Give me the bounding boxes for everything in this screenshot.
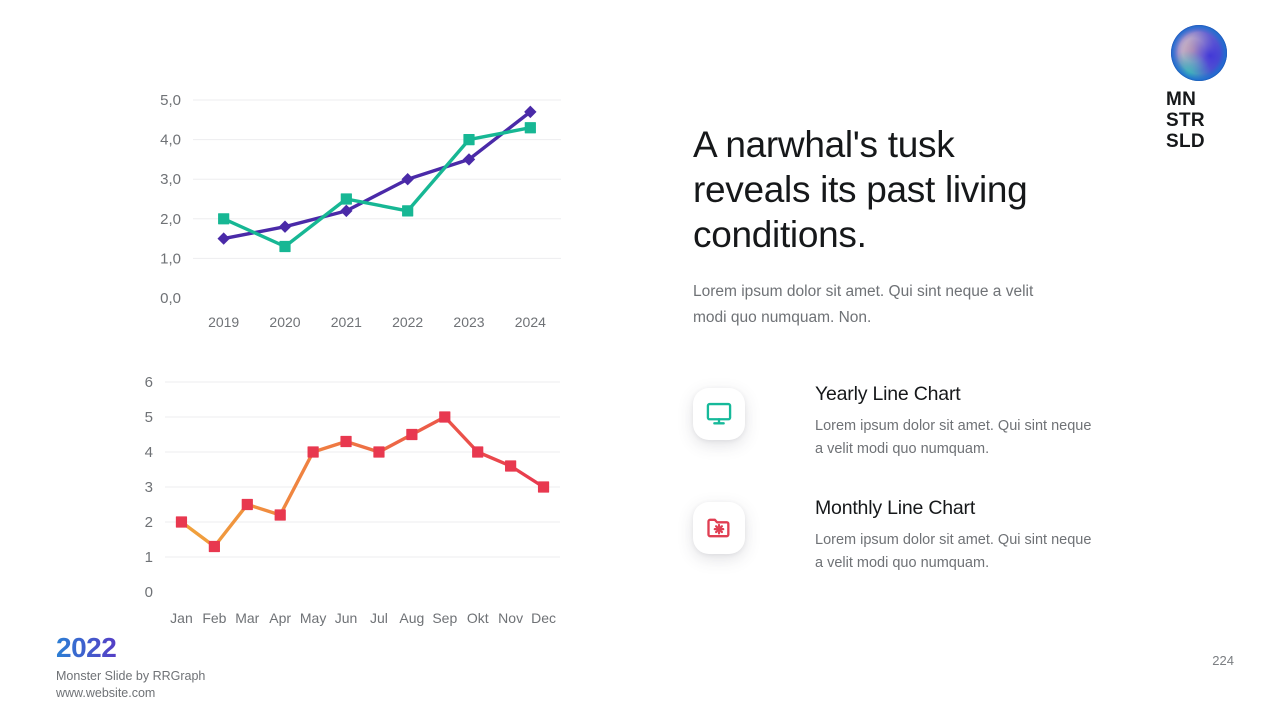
x-axis-tick-label: Apr	[269, 610, 291, 626]
page-number: 224	[1212, 653, 1234, 668]
feature-item-monthly-line-chart[interactable]: Monthly Line Chart Lorem ipsum dolor sit…	[693, 496, 1173, 575]
logo-wordmark: MN STR SLD	[1166, 89, 1238, 152]
y-axis-tick-label: 3	[145, 479, 153, 496]
y-axis-tick-label: 3,0	[160, 171, 181, 188]
feature-list: Yearly Line Chart Lorem ipsum dolor sit …	[693, 382, 1173, 610]
data-point-marker	[538, 481, 549, 492]
x-axis-tick-label: Jan	[170, 610, 193, 626]
folder-settings-icon	[705, 514, 733, 542]
data-point-marker	[472, 446, 483, 457]
x-axis-tick-label: 2020	[269, 314, 300, 330]
content-panel: A narwhal's tusk reveals its past living…	[693, 122, 1173, 331]
x-axis-tick-label: Aug	[399, 610, 424, 626]
footer: 2022 Monster Slide by RRGraph www.websit…	[56, 632, 205, 702]
y-axis-tick-label: 6	[145, 374, 153, 391]
logo-line-1: MN	[1166, 89, 1238, 110]
y-axis-tick-label: 4	[145, 444, 153, 461]
data-point-marker	[242, 499, 253, 510]
x-axis-tick-label: Jun	[335, 610, 358, 626]
feature-text: Yearly Line Chart Lorem ipsum dolor sit …	[815, 382, 1095, 461]
feature-title: Monthly Line Chart	[815, 496, 1095, 520]
data-point-marker	[217, 232, 229, 244]
footer-year: 2022	[56, 632, 205, 664]
footer-credits: Monster Slide by RRGraph www.website.com	[56, 668, 205, 702]
data-point-marker	[373, 446, 384, 457]
yearly-chart-svg: 0,01,02,03,04,05,02019202020212022202320…	[140, 80, 580, 340]
data-point-marker	[279, 221, 291, 233]
x-axis-tick-label: May	[300, 610, 326, 626]
x-axis-tick-label: 2022	[392, 314, 423, 330]
y-axis-tick-label: 5,0	[160, 92, 181, 109]
brand-logo[interactable]: MN STR SLD	[1162, 22, 1238, 152]
logo-line-2: STR	[1166, 110, 1238, 131]
x-axis-tick-label: Nov	[498, 610, 523, 626]
data-point-marker	[439, 411, 450, 422]
x-axis-tick-label: 2024	[515, 314, 546, 330]
series-line	[224, 112, 531, 239]
feature-icon-badge	[693, 502, 745, 554]
y-axis-tick-label: 0	[145, 584, 153, 601]
y-axis-tick-label: 4,0	[160, 132, 181, 149]
data-point-marker	[406, 429, 417, 440]
series-line	[182, 417, 544, 547]
monthly-chart-svg: 0123456JanFebMarAprMayJunJulAugSepOktNov…	[140, 362, 580, 632]
feature-icon-badge	[693, 388, 745, 440]
data-point-marker	[279, 241, 290, 252]
monthly-line-chart: 0123456JanFebMarAprMayJunJulAugSepOktNov…	[140, 362, 580, 632]
y-axis-tick-label: 5	[145, 409, 153, 426]
data-point-marker	[209, 541, 220, 552]
data-point-marker	[505, 460, 516, 471]
data-point-marker	[176, 516, 187, 527]
x-axis-tick-label: Sep	[432, 610, 457, 626]
data-point-marker	[340, 436, 351, 447]
data-point-marker	[275, 509, 286, 520]
data-point-marker	[463, 134, 474, 145]
gradient-sphere-icon	[1168, 22, 1230, 84]
yearly-line-chart: 0,01,02,03,04,05,02019202020212022202320…	[140, 80, 580, 340]
data-point-marker	[402, 205, 413, 216]
y-axis-tick-label: 1,0	[160, 250, 181, 267]
x-axis-tick-label: Okt	[467, 610, 489, 626]
data-point-marker	[218, 213, 229, 224]
data-point-marker	[525, 122, 536, 133]
y-axis-tick-label: 0,0	[160, 290, 181, 307]
x-axis-tick-label: 2023	[453, 314, 484, 330]
monitor-icon	[705, 400, 733, 428]
x-axis-tick-label: Jul	[370, 610, 388, 626]
data-point-marker	[401, 173, 413, 185]
x-axis-tick-label: Feb	[202, 610, 226, 626]
feature-title: Yearly Line Chart	[815, 382, 1095, 406]
x-axis-tick-label: 2021	[331, 314, 362, 330]
data-point-marker	[308, 446, 319, 457]
x-axis-tick-label: Dec	[531, 610, 556, 626]
x-axis-tick-label: 2019	[208, 314, 239, 330]
footer-website-line[interactable]: www.website.com	[56, 685, 205, 702]
data-point-marker	[341, 193, 352, 204]
y-axis-tick-label: 1	[145, 549, 153, 566]
page-title: A narwhal's tusk reveals its past living…	[693, 122, 1053, 257]
feature-item-yearly-line-chart[interactable]: Yearly Line Chart Lorem ipsum dolor sit …	[693, 382, 1173, 461]
y-axis-tick-label: 2	[145, 514, 153, 531]
slide-canvas: 0,01,02,03,04,05,02019202020212022202320…	[0, 0, 1280, 720]
logo-line-3: SLD	[1166, 131, 1238, 152]
x-axis-tick-label: Mar	[235, 610, 259, 626]
y-axis-tick-label: 2,0	[160, 211, 181, 228]
feature-text: Monthly Line Chart Lorem ipsum dolor sit…	[815, 496, 1095, 575]
feature-description: Lorem ipsum dolor sit amet. Qui sint neq…	[815, 415, 1095, 461]
data-point-marker	[340, 205, 352, 217]
footer-credit-line: Monster Slide by RRGraph	[56, 668, 205, 685]
feature-description: Lorem ipsum dolor sit amet. Qui sint neq…	[815, 529, 1095, 575]
page-subtitle: Lorem ipsum dolor sit amet. Qui sint neq…	[693, 279, 1065, 331]
